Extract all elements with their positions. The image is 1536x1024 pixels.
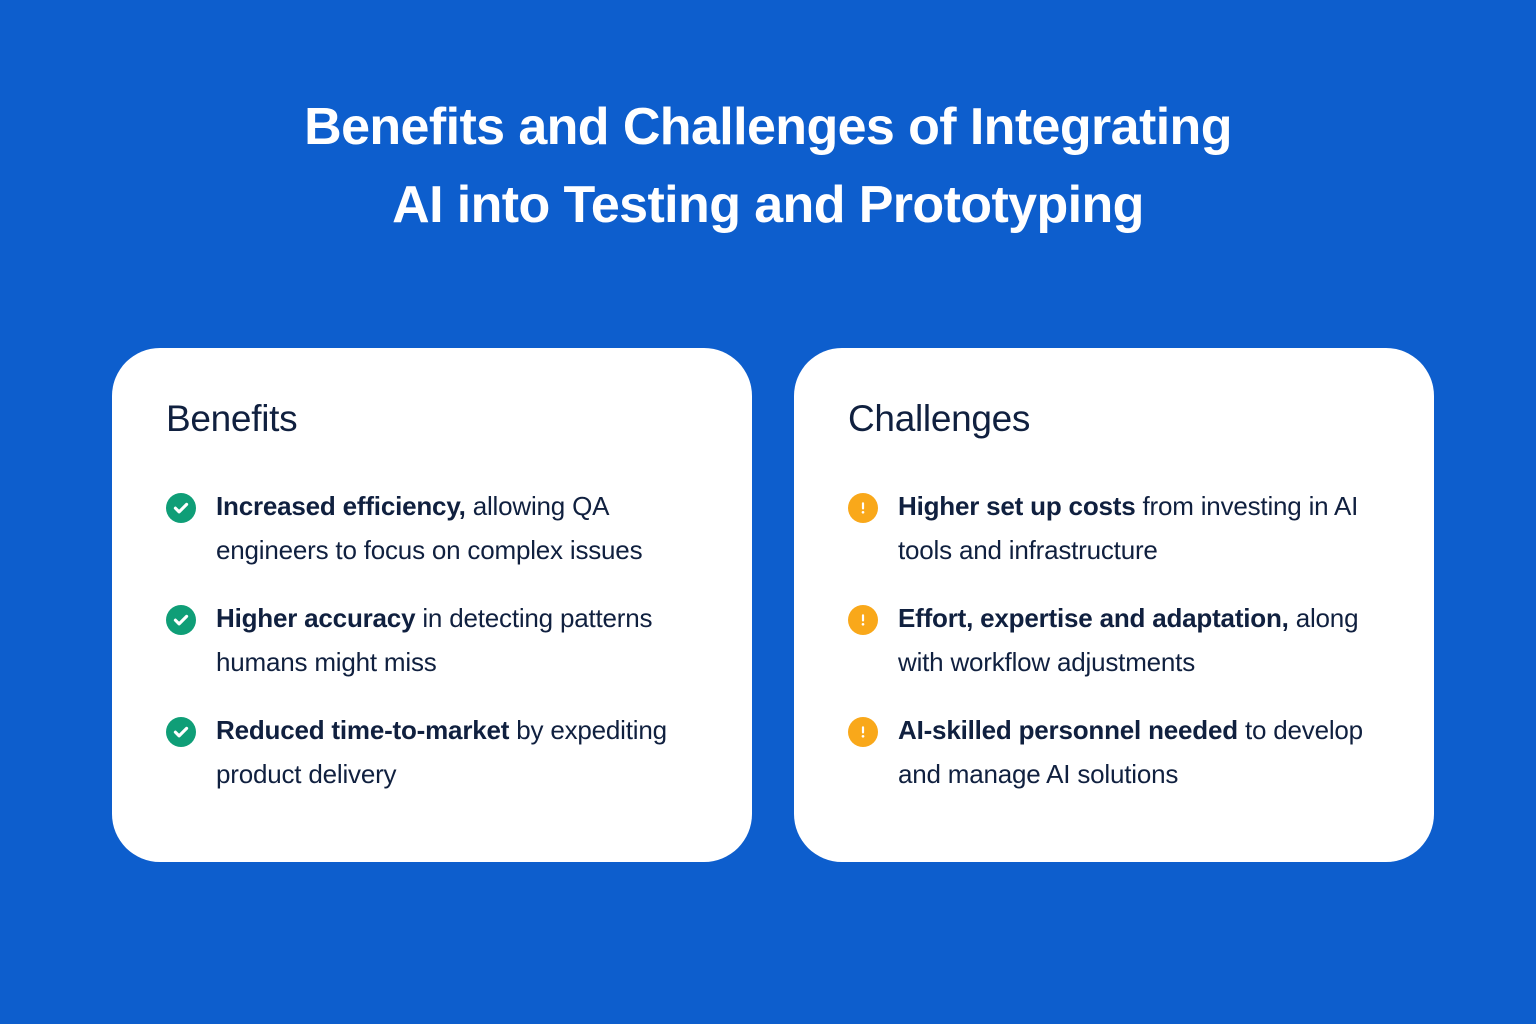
challenges-card-heading: Challenges <box>848 398 1392 440</box>
list-item-lead: Higher set up costs <box>898 491 1135 521</box>
list-item-lead: Increased efficiency, <box>216 491 466 521</box>
challenges-card: Challenges Higher set up costs from inve… <box>794 348 1434 862</box>
list-item: Increased efficiency, allowing QA engine… <box>166 484 710 572</box>
page-title: Benefits and Challenges of Integrating A… <box>0 88 1536 244</box>
list-item-text: Effort, expertise and adaptation, along … <box>898 596 1388 684</box>
list-item: Higher set up costs from investing in AI… <box>848 484 1392 572</box>
list-item-text: Higher accuracy in detecting patterns hu… <box>216 596 706 684</box>
title-line-1: Benefits and Challenges of Integrating <box>0 88 1536 166</box>
benefits-card-heading: Benefits <box>166 398 710 440</box>
cards-container: Benefits Increased efficiency, allowing … <box>112 348 1434 862</box>
list-item: Effort, expertise and adaptation, along … <box>848 596 1392 684</box>
list-item-text: Reduced time-to-market by expediting pro… <box>216 708 706 796</box>
infographic-slide: Benefits and Challenges of Integrating A… <box>0 0 1536 1024</box>
list-item-text: AI-skilled personnel needed to develop a… <box>898 708 1388 796</box>
list-item-lead: Reduced time-to-market <box>216 715 509 745</box>
list-item: Reduced time-to-market by expediting pro… <box>166 708 710 796</box>
list-item: AI-skilled personnel needed to develop a… <box>848 708 1392 796</box>
list-item-text: Increased efficiency, allowing QA engine… <box>216 484 706 572</box>
list-item-lead: AI-skilled personnel needed <box>898 715 1238 745</box>
exclamation-circle-icon <box>848 605 878 635</box>
exclamation-circle-icon <box>848 717 878 747</box>
list-item-text: Higher set up costs from investing in AI… <box>898 484 1388 572</box>
list-item-lead: Higher accuracy <box>216 603 415 633</box>
list-item: Higher accuracy in detecting patterns hu… <box>166 596 710 684</box>
benefits-list: Increased efficiency, allowing QA engine… <box>166 484 710 796</box>
benefits-card: Benefits Increased efficiency, allowing … <box>112 348 752 862</box>
challenges-list: Higher set up costs from investing in AI… <box>848 484 1392 796</box>
check-circle-icon <box>166 605 196 635</box>
title-line-2: AI into Testing and Prototyping <box>0 166 1536 244</box>
exclamation-circle-icon <box>848 493 878 523</box>
list-item-lead: Effort, expertise and adaptation, <box>898 603 1289 633</box>
check-circle-icon <box>166 717 196 747</box>
check-circle-icon <box>166 493 196 523</box>
